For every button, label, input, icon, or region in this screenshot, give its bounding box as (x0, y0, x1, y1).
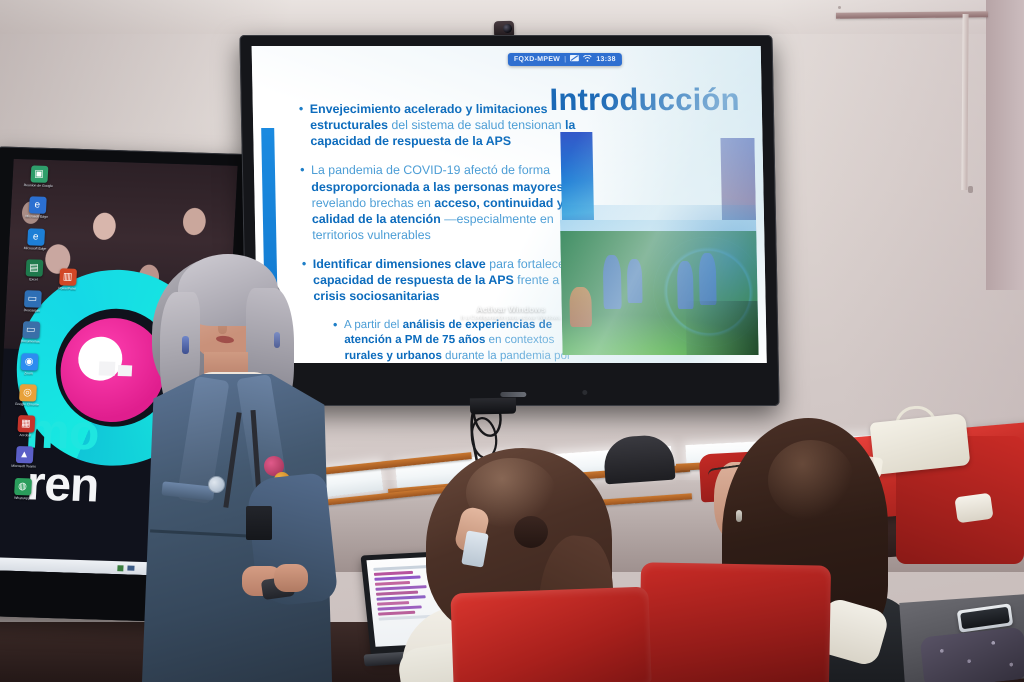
taskbar-icon[interactable] (118, 565, 124, 571)
audience2-hair-highlight (768, 440, 854, 520)
desktop-icon[interactable]: ▲Microsoft Teams (4, 446, 45, 469)
desktop-icon[interactable]: ▥PowerPoint (47, 268, 88, 291)
bullet-text: La pandemia de COVID-19 afectó de forma … (311, 162, 594, 243)
desktop-icon-glyph: ▲ (15, 446, 33, 464)
slide-image-collage (558, 124, 758, 355)
presenter-standing (142, 248, 332, 682)
slide-bullet: •Identificar dimensiones clave para fort… (302, 256, 595, 304)
desktop-icon-label: Reunion de Google (18, 183, 58, 189)
desktop-icon-label: WhatsApp (2, 495, 42, 501)
bullet-text-segment: del sistema de salud tensionan (388, 118, 565, 132)
watermark-line-1: Activar Windows (461, 305, 562, 314)
bullet-text: Identificar dimensiones clave para forta… (313, 256, 595, 304)
bullet-text: A partir del análisis de experiencias de… (344, 317, 596, 363)
bullet-text-segment: desproporcionada a las personas mayores (311, 180, 563, 194)
desktop-icon-glyph: ◍ (14, 477, 32, 495)
desktop-icon-label: Descargas (12, 308, 52, 314)
desktop-icon[interactable]: eMicrosoft Edge (17, 196, 58, 219)
desktop-icon[interactable]: ◉Zoom (8, 352, 49, 375)
bullet-text-segment: rurales y urbanos (344, 348, 442, 361)
cast-session-code: FQXD-MPEW (514, 56, 560, 63)
cast-status-bar[interactable]: FQXD-MPEW | 13:38 (508, 53, 622, 66)
red-seat-foreground-center (450, 587, 651, 682)
laptop-screen-line (377, 605, 421, 610)
tv-brand-logo (500, 392, 526, 397)
brand-mark-icon (99, 361, 133, 376)
desktop-icon[interactable]: ◍WhatsApp (2, 477, 43, 500)
audience1-hair-tie (514, 516, 548, 548)
presentation-room-scene: mo ren ▣Reunion de GoogleeMicrosoft Edge… (0, 0, 1024, 682)
cast-bar-separator: | (564, 56, 566, 63)
paper-cup (954, 493, 993, 524)
desktop-icon-label: Acrobat (5, 433, 45, 439)
desktop-icon-glyph: ▤ (25, 259, 43, 277)
desktop-icon-label: Zoom (8, 370, 48, 376)
desktop-icon-glyph: e (27, 228, 45, 246)
wall-corner (986, 0, 1024, 290)
laptop-screen-line (378, 611, 415, 616)
bullet-text-segment: para fortalecer (486, 257, 573, 271)
desktop-icon[interactable]: ▭Documentos (10, 321, 51, 344)
desktop-icon-glyph: ▭ (23, 290, 41, 308)
slide-bullet: •Envejecimiento acelerado y limitaciones… (299, 101, 592, 149)
desktop-icon-label: Microsoft Teams (4, 464, 44, 470)
desktop-icon-column-secondary[interactable]: ▥PowerPoint (46, 268, 88, 300)
presenter-earring-right (274, 332, 280, 348)
desktop-icon-glyph: ▭ (22, 321, 40, 339)
bullet-text: Envejecimiento acelerado y limitaciones … (310, 101, 592, 149)
desktop-icon-glyph: e (28, 197, 46, 215)
door-frame-trim-vertical (961, 14, 968, 190)
slide-bullet: •A partir del análisis de experiencias d… (333, 317, 596, 363)
desktop-icon-glyph: ▥ (59, 268, 77, 286)
desktop-icon-label: PowerPoint (47, 286, 87, 292)
slide-bullet-list: •Envejecimiento acelerado y limitaciones… (299, 101, 597, 363)
wifi-icon (583, 55, 592, 64)
bullet-marker-icon: • (299, 101, 311, 149)
wall-shadow-right (764, 0, 1024, 430)
bullet-text-segment: Identificar dimensiones clave (313, 257, 486, 271)
presenter-name-badge (246, 506, 272, 540)
bullet-text-segment: en contextos (485, 333, 554, 346)
laptop-screen-line (374, 575, 421, 580)
tv-ir-sensor-icon (582, 390, 587, 395)
desktop-icon[interactable]: ◎Google Chrome (7, 383, 48, 406)
sequined-bag (920, 627, 1024, 682)
screen-cast-icon (570, 55, 579, 64)
desktop-icon[interactable]: ▣Reunion de Google (18, 165, 59, 188)
taskbar-icon[interactable] (128, 566, 135, 571)
desktop-icon-glyph: ▣ (30, 165, 48, 183)
windows-activation-watermark: Activar Windows Ir a Configuración para … (461, 305, 562, 321)
laptop-screen-line (377, 601, 410, 606)
desktop-icon-glyph: ◉ (20, 353, 38, 371)
wall-fixture-dot (838, 6, 841, 9)
red-seat-foreground-right (639, 562, 831, 682)
laptop-screen-line (376, 595, 425, 601)
wall-fixture-dot (968, 186, 973, 193)
tv-wall-mount (470, 398, 516, 415)
desktop-icon-label: Google Chrome (7, 401, 47, 407)
jacket-pin-badge (208, 476, 225, 493)
desktop-icon-label: Microsoft Edge (15, 245, 55, 251)
desktop-icon-glyph: ◎ (19, 384, 37, 402)
audience2-earring (736, 510, 742, 522)
presenter-hand-right (274, 564, 308, 592)
watermark-line-2: Ir a Configuración para activar Windows. (461, 315, 562, 321)
presenter-earring-left (182, 336, 189, 354)
slide-bullet: •La pandemia de COVID-19 afectó de forma… (300, 162, 594, 243)
desktop-icon[interactable]: ▦Acrobat (5, 415, 46, 438)
desktop-icon-label: Microsoft Edge (17, 214, 57, 220)
bullet-text-segment: A partir del (344, 318, 403, 331)
bullet-text-segment: La pandemia de COVID-19 afectó de forma (311, 163, 550, 177)
bullet-text-segment: frente a (514, 273, 563, 287)
cast-clock: 13:38 (596, 56, 616, 63)
laptop-screen-line (375, 581, 410, 586)
desktop-icon-label: Documentos (10, 339, 50, 345)
desktop-icon-glyph: ▦ (17, 415, 35, 433)
collage-shadow (686, 301, 759, 355)
desktop-icon[interactable]: eMicrosoft Edge (15, 227, 56, 250)
